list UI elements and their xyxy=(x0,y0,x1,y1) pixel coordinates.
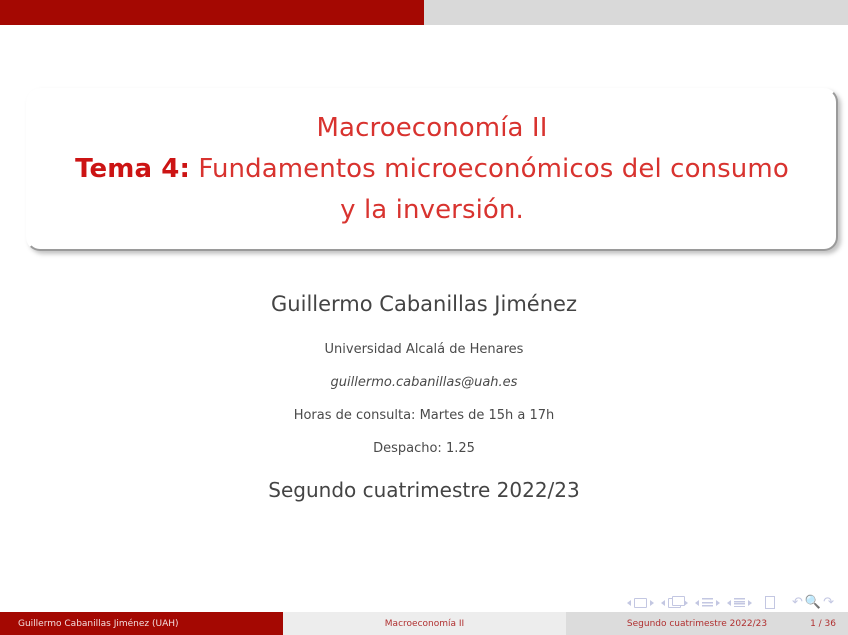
next-slide-icon[interactable] xyxy=(650,600,654,606)
doc-nav-group[interactable]: ↶ 🔍 ↷ xyxy=(792,596,834,609)
subsection-icon[interactable] xyxy=(702,598,713,607)
find-icon[interactable]: 🔍 xyxy=(805,596,821,609)
slide-nav-group[interactable] xyxy=(627,598,654,608)
topic-text: Fundamentos microeconómicos del consumo xyxy=(190,154,789,184)
frame-icon[interactable] xyxy=(668,598,681,608)
footer-bar: Guillermo Cabanillas Jiménez (UAH) Macro… xyxy=(0,612,848,635)
document-icon[interactable] xyxy=(765,596,775,609)
forward-icon[interactable]: ↷ xyxy=(823,596,834,609)
title-block: Macroeconomía II Tema 4: Fundamentos mic… xyxy=(26,88,838,251)
prev-slide-icon[interactable] xyxy=(627,600,631,606)
section-icon[interactable] xyxy=(734,598,745,607)
topic-label: Tema 4: xyxy=(75,154,190,184)
footer-date-text: Segundo cuatrimestre 2022/23 xyxy=(627,619,767,629)
frame-nav-group[interactable] xyxy=(661,598,688,608)
presentation-title-line3: y la inversión. xyxy=(340,190,524,231)
next-subsection-icon[interactable] xyxy=(716,600,720,606)
subsection-nav-group[interactable] xyxy=(695,598,720,607)
prev-subsection-icon[interactable] xyxy=(695,600,699,606)
office-hours: Horas de consulta: Martes de 15h a 17h xyxy=(0,408,848,423)
author-institution: Universidad Alcalá de Henares xyxy=(0,342,848,357)
header-bar xyxy=(0,0,848,25)
author-name: Guillermo Cabanillas Jiménez xyxy=(0,292,848,316)
author-email: guillermo.cabanillas@uah.es xyxy=(0,375,848,390)
header-bar-filler xyxy=(424,0,848,25)
office-number: Despacho: 1.25 xyxy=(0,441,848,456)
author-block: Guillermo Cabanillas Jiménez Universidad… xyxy=(0,292,848,502)
footer-date: Segundo cuatrimestre 2022/23 1 / 36 xyxy=(566,612,848,635)
prev-frame-icon[interactable] xyxy=(661,600,665,606)
navigation-symbols[interactable]: ↶ 🔍 ↷ xyxy=(627,596,834,609)
footer-title: Macroeconomía II xyxy=(283,612,566,635)
section-nav-group[interactable] xyxy=(727,598,752,607)
presentation-title-line1: Macroeconomía II xyxy=(317,108,548,149)
prev-section-icon[interactable] xyxy=(727,600,731,606)
slide-icon[interactable] xyxy=(634,598,647,608)
footer-author: Guillermo Cabanillas Jiménez (UAH) xyxy=(0,612,283,635)
footer-page-number: 1 / 36 xyxy=(810,619,836,629)
back-icon[interactable]: ↶ xyxy=(792,596,803,609)
header-bar-accent xyxy=(0,0,424,25)
presentation-title-line2: Tema 4: Fundamentos microeconómicos del … xyxy=(75,149,789,190)
next-section-icon[interactable] xyxy=(748,600,752,606)
presentation-date: Segundo cuatrimestre 2022/23 xyxy=(0,478,848,502)
